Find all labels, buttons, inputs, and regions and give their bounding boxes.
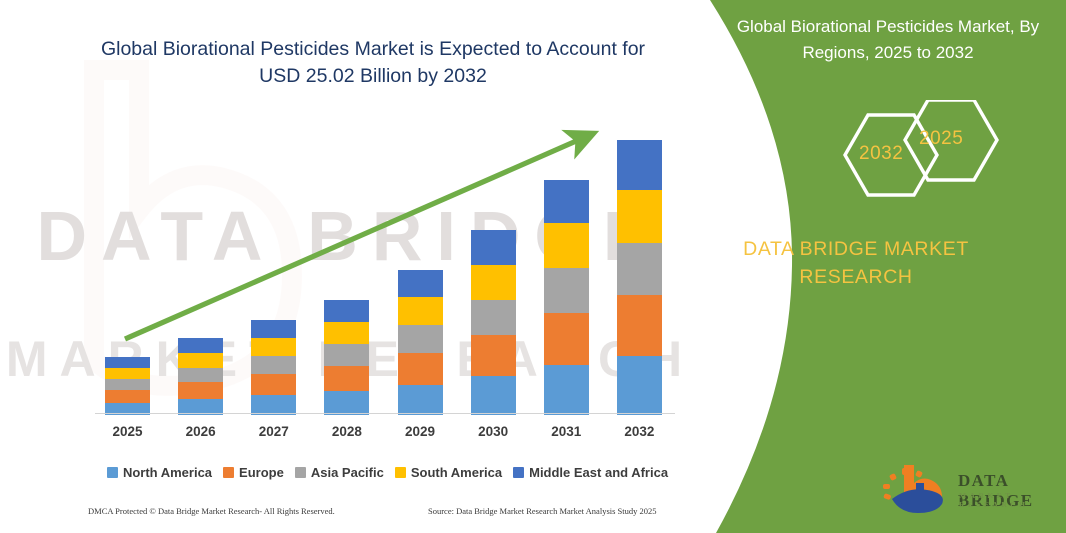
bar-segment [324, 366, 369, 391]
legend-item-2[interactable]: Asia Pacific [295, 465, 384, 480]
bar-2031 [544, 180, 589, 415]
bar-segment [178, 338, 223, 353]
bar-segment [544, 268, 589, 313]
bar-segment [398, 270, 443, 297]
bar-2028 [324, 300, 369, 415]
bar-segment [471, 335, 516, 376]
legend-label: North America [123, 465, 212, 480]
bar-segment [178, 382, 223, 399]
legend-item-0[interactable]: North America [107, 465, 212, 480]
hex-label-front: 2025 [919, 128, 963, 150]
bar-2025 [105, 357, 150, 415]
dbmr-logo-subtext: MARKET RESEARCH [959, 491, 1060, 509]
chart-plot-area [95, 110, 680, 415]
dbmr-logo: DATA BRIDGE MARKET RESEARCH [880, 463, 1060, 515]
bar-segment [544, 313, 589, 365]
bar-segment [251, 338, 296, 356]
bar-2029 [398, 270, 443, 415]
bar-segment [105, 390, 150, 403]
bar-segment [471, 300, 516, 335]
bar-segment [471, 265, 516, 300]
x-axis-tick-2029: 2029 [390, 424, 450, 439]
legend-item-1[interactable]: Europe [223, 465, 284, 480]
bar-segment [251, 374, 296, 395]
footer: DMCA Protected © Data Bridge Market Rese… [0, 506, 700, 526]
legend-label: Europe [239, 465, 284, 480]
bar-segment [398, 297, 443, 325]
legend-swatch-icon [513, 467, 524, 478]
legend-swatch-icon [295, 467, 306, 478]
x-axis-tick-2031: 2031 [536, 424, 596, 439]
chart-title: Global Biorational Pesticides Market is … [88, 36, 658, 90]
bar-segment [324, 344, 369, 366]
x-axis-tick-2027: 2027 [244, 424, 304, 439]
legend-swatch-icon [395, 467, 406, 478]
bar-segment [544, 365, 589, 415]
bar-2030 [471, 230, 516, 415]
bar-segment [544, 223, 589, 268]
x-axis-tick-2028: 2028 [317, 424, 377, 439]
bar-2026 [178, 338, 223, 415]
bar-segment [105, 357, 150, 368]
bar-segment [544, 180, 589, 223]
bar-segment [324, 322, 369, 344]
hex-label-back: 2032 [859, 143, 903, 165]
footer-copyright: DMCA Protected © Data Bridge Market Rese… [88, 506, 335, 516]
bar-segment [105, 379, 150, 390]
panel-brand: DATA BRIDGE MARKET RESEARCH [696, 235, 1016, 291]
chart-x-axis: 20252026202720282029203020312032 [95, 424, 680, 446]
legend-swatch-icon [107, 467, 118, 478]
hexagon-badges: 2032 2025 [640, 100, 1066, 210]
legend-item-3[interactable]: South America [395, 465, 502, 480]
bar-segment [398, 353, 443, 385]
panel-brand-line-2: RESEARCH [799, 266, 912, 288]
bar-segment [178, 353, 223, 368]
footer-source: Source: Data Bridge Market Research Mark… [428, 506, 657, 516]
chart-legend: North AmericaEuropeAsia PacificSouth Ame… [95, 461, 680, 483]
bar-segment [105, 368, 150, 379]
bar-segment [324, 300, 369, 322]
bar-segment [251, 395, 296, 415]
bar-segment [471, 230, 516, 265]
hexagon-outlines-icon [640, 100, 1066, 210]
bar-segment [471, 376, 516, 415]
bar-segment [398, 325, 443, 353]
legend-label: South America [411, 465, 502, 480]
panel-title: Global Biorational Pesticides Market, By… [718, 14, 1058, 66]
bar-segment [324, 391, 369, 415]
bar-segment [398, 385, 443, 415]
chart-baseline [95, 413, 675, 414]
panel-brand-line-1: DATA BRIDGE MARKET [743, 238, 969, 260]
bar-2027 [251, 320, 296, 415]
bar-segment [251, 320, 296, 338]
legend-label: Asia Pacific [311, 465, 384, 480]
x-axis-tick-2025: 2025 [98, 424, 158, 439]
x-axis-tick-2026: 2026 [171, 424, 231, 439]
legend-swatch-icon [223, 467, 234, 478]
x-axis-tick-2030: 2030 [463, 424, 523, 439]
right-green-panel: Global Biorational Pesticides Market, By… [640, 0, 1066, 533]
bar-segment [178, 368, 223, 382]
bar-segment [251, 356, 296, 374]
infographic-canvas: DATA BRIDGE MARKET RESEARCH Global Biora… [0, 0, 1066, 533]
